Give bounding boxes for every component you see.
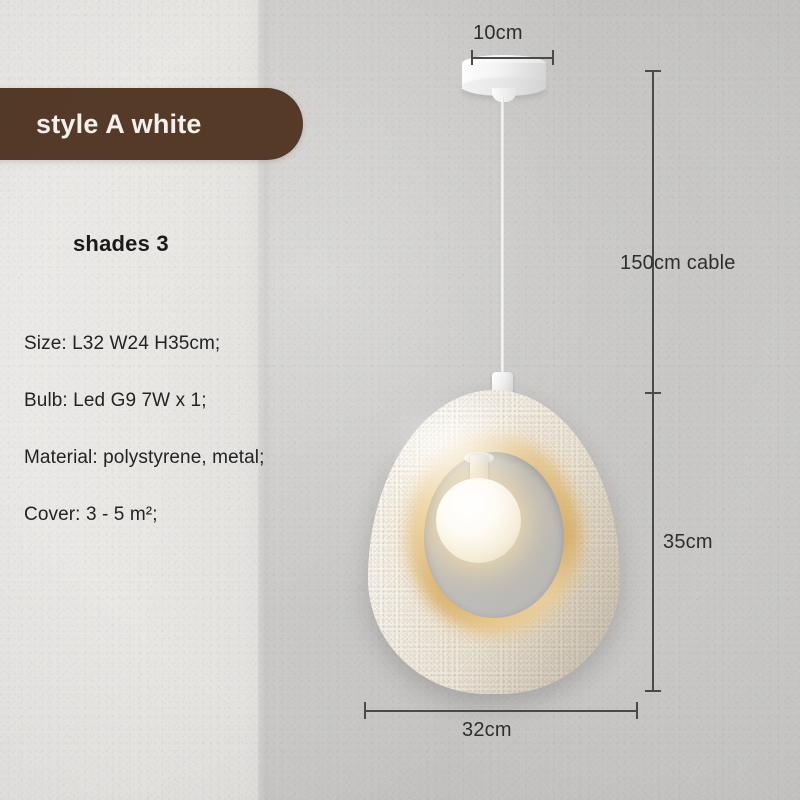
dimension-label-cable-length: 150cm cable: [620, 252, 736, 275]
dimension-tick-width-left: [364, 702, 366, 719]
spec-material: Material: polystyrene, metal;: [24, 447, 354, 469]
spec-bulb: Bulb: Led G9 7W x 1;: [24, 390, 354, 412]
suspension-cord: [501, 97, 504, 397]
dimension-label-shade-width: 32cm: [462, 719, 512, 742]
spec-cover: Cover: 3 - 5 m²;: [24, 504, 354, 526]
dimension-tick-middle: [645, 392, 661, 394]
product-spec-image: style A white shades 3 Size: L32 W24 H35…: [0, 0, 800, 800]
spec-list: Size: L32 W24 H35cm; Bulb: Led G9 7W x 1…: [24, 333, 354, 560]
style-badge-label: style A white: [0, 109, 202, 140]
dimension-tick-canopy-left: [471, 50, 473, 65]
g9-globe-bulb: [436, 478, 521, 563]
dimension-line-canopy: [471, 57, 554, 59]
dimension-tick-top: [645, 70, 661, 72]
dimension-label-shade-height: 35cm: [663, 531, 713, 554]
dimension-tick-bottom: [645, 690, 661, 692]
dimension-line-shade-width: [364, 710, 637, 712]
style-badge: style A white: [0, 88, 303, 160]
shades-heading: shades 3: [73, 231, 169, 257]
dimension-line-vertical: [652, 70, 654, 691]
dimension-tick-canopy-right: [552, 50, 554, 65]
dimension-tick-width-right: [636, 702, 638, 719]
spec-size: Size: L32 W24 H35cm;: [24, 333, 354, 355]
dimension-label-canopy-width: 10cm: [473, 22, 523, 45]
